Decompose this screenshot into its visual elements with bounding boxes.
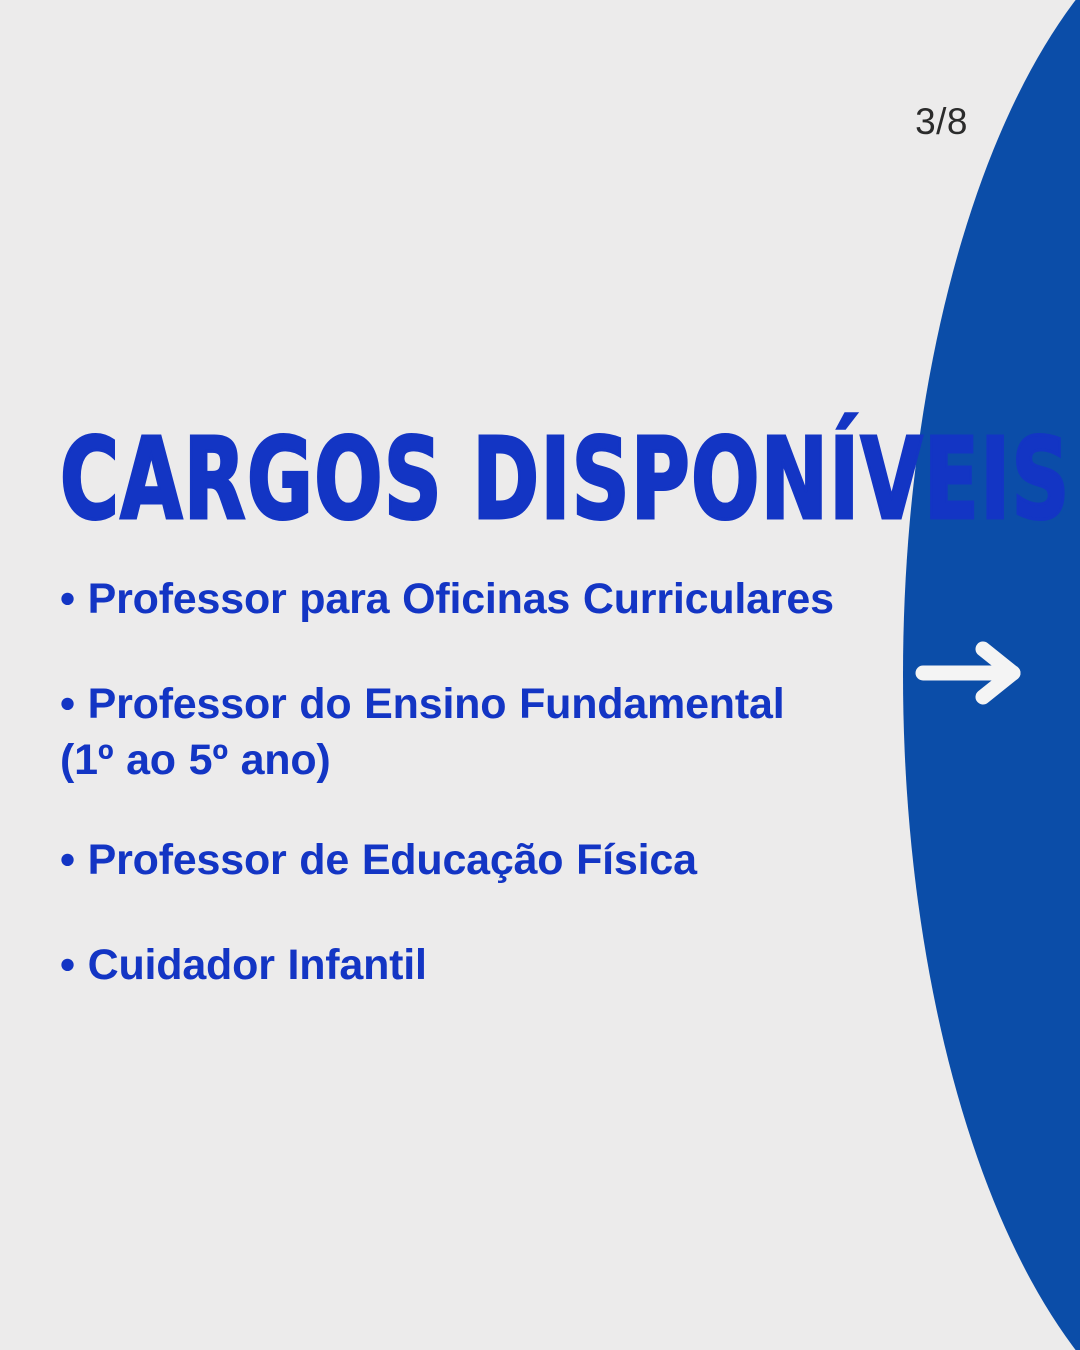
job-positions-list: • Professor para Oficinas Curriculares •… — [60, 572, 890, 993]
list-item-label-continued: (1º ao 5º ano) — [60, 736, 331, 784]
page-title: CARGOS DISPONÍVEIS — [60, 423, 1071, 536]
bullet-dot-icon: • — [60, 575, 75, 623]
list-item-educacao-fisica: • Professor de Educação Física — [60, 833, 890, 889]
next-slide-button[interactable] — [913, 640, 1031, 706]
list-item-label: Professor de Educação Física — [88, 836, 697, 884]
arrow-right-icon — [913, 640, 1031, 706]
page-counter: 3/8 — [0, 103, 1080, 140]
list-item-ensino-fundamental: • Professor do Ensino Fundamental (1º ao… — [60, 677, 890, 789]
carousel-slide: 3/8 CARGOS DISPONÍVEIS • Professor para … — [0, 0, 1080, 1350]
list-item-label: Professor para Oficinas Curriculares — [88, 575, 834, 623]
bullet-dot-icon: • — [60, 941, 75, 989]
bullet-dot-icon: • — [60, 836, 75, 884]
bullet-dot-icon: • — [60, 680, 75, 728]
list-item-label: Professor do Ensino Fundamental — [88, 680, 785, 728]
list-item-oficinas-curriculares: • Professor para Oficinas Curriculares — [60, 572, 890, 628]
list-item-cuidador-infantil: • Cuidador Infantil — [60, 938, 890, 994]
list-item-label: Cuidador Infantil — [88, 941, 427, 989]
